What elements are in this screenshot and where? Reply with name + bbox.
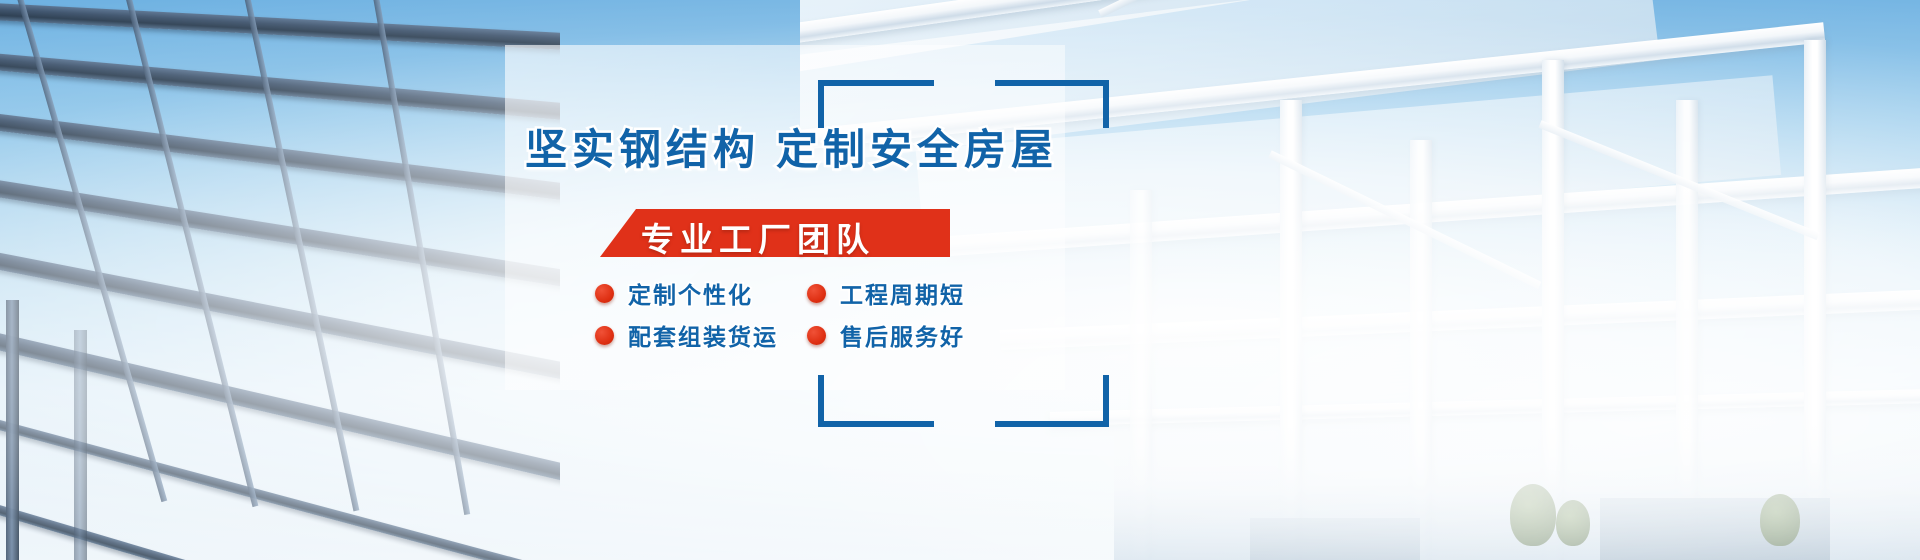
feature-item: 售后服务好 (807, 318, 965, 352)
feature-label: 配套组装货运 (628, 318, 778, 352)
feature-label: 售后服务好 (840, 318, 965, 352)
red-dot-icon (595, 284, 614, 303)
headline: 坚实钢结构定制安全房屋 (525, 116, 1045, 177)
feature-item: 配套组装货运 (595, 318, 807, 352)
feature-row: 配套组装货运 售后服务好 (595, 314, 1035, 356)
corner-bracket-bottom-left (818, 375, 934, 427)
ribbon-label: 专业工厂团队 (641, 213, 875, 261)
red-dot-icon (595, 326, 614, 345)
red-dot-icon (807, 284, 826, 303)
feature-item: 工程周期短 (807, 276, 965, 310)
promo-banner: 坚实钢结构定制安全房屋 专业工厂团队 定制个性化 工程周期短 配套组装货运 售后… (0, 0, 1920, 560)
feature-row: 定制个性化 工程周期短 (595, 272, 1035, 314)
feature-item: 定制个性化 (595, 276, 807, 310)
headline-part2: 定制安全房屋 (776, 126, 1058, 173)
feature-label: 工程周期短 (840, 276, 965, 310)
feature-list: 定制个性化 工程周期短 配套组装货运 售后服务好 (595, 272, 1035, 356)
corner-bracket-bottom-right (995, 375, 1109, 427)
headline-part1: 坚实钢结构 (525, 126, 760, 173)
feature-label: 定制个性化 (628, 276, 753, 310)
red-dot-icon (807, 326, 826, 345)
